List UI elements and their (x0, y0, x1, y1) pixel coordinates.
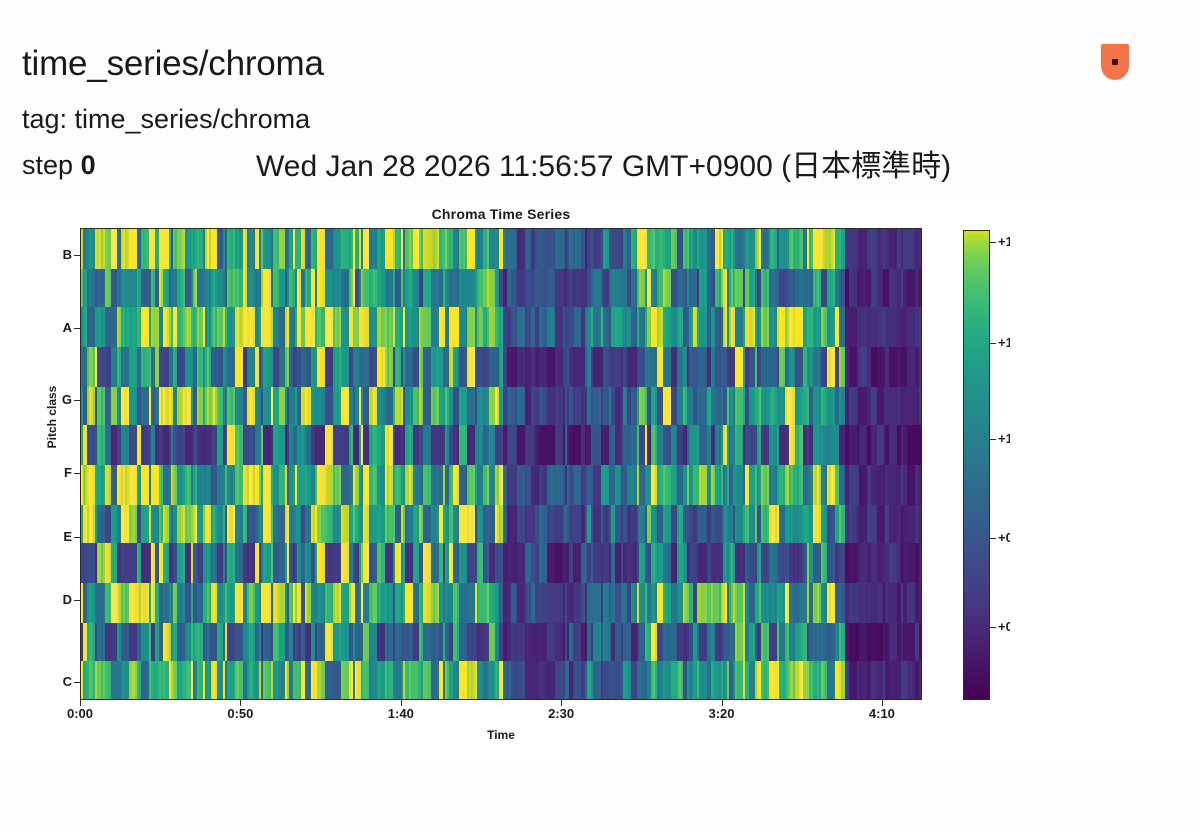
colorbar-tick-mark (990, 439, 996, 440)
x-tick-label: 1:40 (356, 706, 446, 721)
x-tick-mark (240, 700, 241, 706)
x-tick-mark (401, 700, 402, 706)
colorbar-tick-mark (990, 627, 996, 628)
y-tick-label: C (0, 674, 72, 689)
y-tick-label: B (0, 247, 72, 262)
colorbar-tick-mark (990, 538, 996, 539)
y-tick-mark (74, 537, 80, 538)
y-tick-mark (74, 328, 80, 329)
image-card: time_series/chroma tag: time_series/chro… (0, 0, 1200, 832)
y-tick-label: E (0, 529, 72, 544)
y-axis-label: Pitch class (45, 357, 59, 477)
x-tick-label: 0:50 (195, 706, 285, 721)
heatmap-plot-area (80, 228, 922, 700)
step-value: 0 (81, 150, 96, 180)
card-header: time_series/chroma tag: time_series/chro… (0, 0, 1200, 200)
y-tick-label: D (0, 592, 72, 607)
y-tick-label: F (0, 465, 72, 480)
x-tick-label: 3:20 (677, 706, 767, 721)
x-tick-mark (561, 700, 562, 706)
x-tick-label: 2:30 (516, 706, 606, 721)
y-tick-mark (74, 600, 80, 601)
tag-label: tag: time_series/chroma (22, 106, 310, 133)
x-tick-mark (882, 700, 883, 706)
x-tick-label: 4:10 (837, 706, 927, 721)
chroma-figure: Chroma Time Series Pitch class CDEFGAB 0… (0, 200, 1200, 760)
x-tick-mark (80, 700, 81, 706)
y-tick-label: G (0, 392, 72, 407)
chart-title: Chroma Time Series (80, 206, 922, 222)
x-axis-label: Time (80, 728, 922, 742)
y-tick-mark (74, 473, 80, 474)
colorbar (963, 230, 990, 700)
pin-button[interactable] (1101, 44, 1129, 80)
heatmap-canvas (81, 229, 922, 700)
y-tick-mark (74, 255, 80, 256)
y-tick-mark (74, 400, 80, 401)
page-title: time_series/chroma (22, 46, 324, 81)
x-tick-mark (722, 700, 723, 706)
y-tick-mark (74, 682, 80, 683)
y-tick-label: A (0, 320, 72, 335)
step-text: step (22, 150, 73, 180)
colorbar-tick-mark (990, 242, 996, 243)
x-tick-label: 0:00 (35, 706, 125, 721)
wall-time: Wed Jan 28 2026 11:56:57 GMT+0900 (日本標準時… (256, 152, 951, 182)
figure-right-clip (1010, 200, 1200, 760)
step-label: step 0 (22, 152, 96, 179)
pin-dot-icon (1112, 59, 1118, 65)
colorbar-tick-mark (990, 343, 996, 344)
